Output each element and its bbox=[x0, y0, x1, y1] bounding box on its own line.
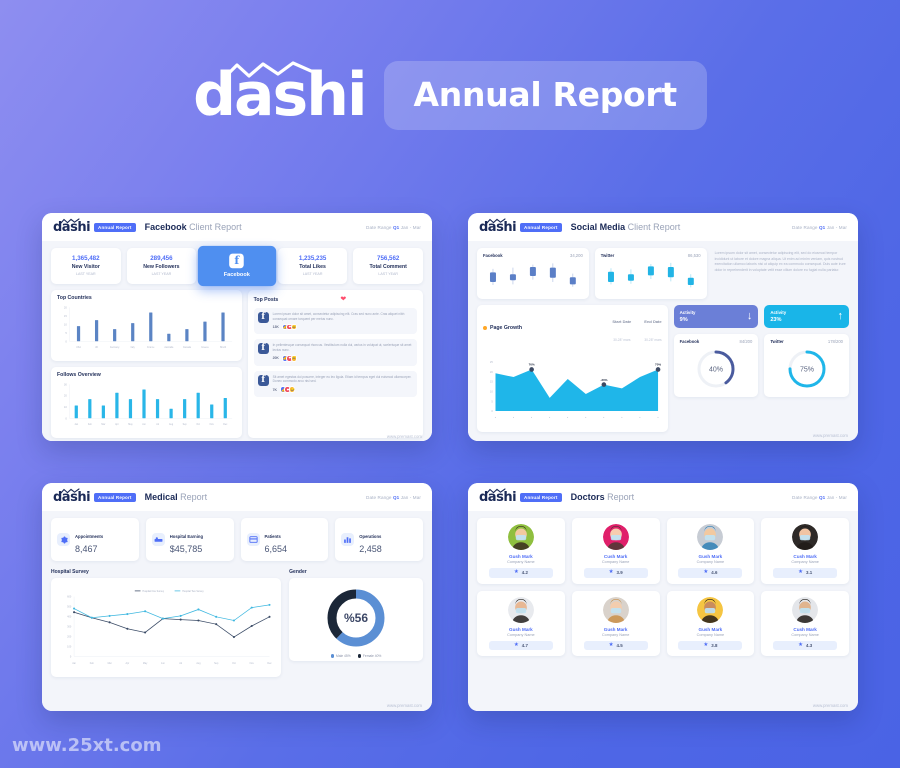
star-icon: ★ bbox=[514, 643, 519, 649]
svg-text:5: 5 bbox=[491, 399, 493, 403]
stat-sub: LAST YEAR bbox=[53, 272, 119, 276]
rating-value: 4.2 bbox=[522, 570, 528, 575]
twitter-gauge-chart: 75% bbox=[784, 346, 830, 392]
svg-text:●: ● bbox=[621, 416, 623, 419]
doctor-card[interactable]: Gush MarkCompany Name★4.2 bbox=[477, 518, 565, 584]
gender-title: Gender bbox=[289, 569, 423, 575]
activity-label: Activity bbox=[680, 310, 696, 315]
slide1-title: Facebook Client Report bbox=[145, 222, 242, 232]
stat-new-followers[interactable]: 289,456 New Followers LAST YEAR bbox=[127, 248, 197, 284]
post-meta: 20K 👍❤😀 bbox=[273, 355, 413, 362]
avatar bbox=[508, 597, 534, 623]
stat-value: 289,456 bbox=[129, 255, 195, 262]
status-dot-icon bbox=[483, 326, 487, 330]
wow-icon: 😀 bbox=[291, 355, 298, 362]
slide3-footer-site: www.premast.com bbox=[387, 703, 422, 708]
slides-grid: dashi Annual Report Facebook Client Repo… bbox=[42, 213, 858, 711]
svg-text:200: 200 bbox=[67, 636, 72, 639]
svg-text:Oct: Oct bbox=[232, 662, 236, 665]
svg-text:Italy: Italy bbox=[131, 346, 136, 349]
post-body: Lorem ipsum dolor sit amet, consectetur … bbox=[273, 312, 413, 330]
slide4-brand: dashi bbox=[479, 490, 516, 505]
doctor-card[interactable]: Gush MarkCompany Name★4.6 bbox=[667, 518, 755, 584]
candle-value: 34,200 bbox=[570, 253, 583, 258]
doctor-company: Company Name bbox=[671, 633, 751, 637]
svg-text:Sep: Sep bbox=[183, 424, 188, 426]
post-item[interactable]: f Lorem ipsum dolor sit amet, consectetu… bbox=[254, 308, 417, 334]
annual-report-badge: Annual Report bbox=[94, 493, 136, 502]
doctor-company: Company Name bbox=[765, 560, 845, 564]
gender-legend: Male 45% Female 40% bbox=[331, 654, 382, 658]
slide4-title: Doctors Report bbox=[571, 492, 635, 502]
svg-text:600: 600 bbox=[67, 596, 72, 599]
slide2-title-rest: Client Report bbox=[625, 222, 680, 232]
page-growth-card: Page Growth Start Date 30-28" mars End D… bbox=[477, 305, 668, 432]
activity-row: Activity 9% ↓ Activity 23% ↑ bbox=[674, 305, 849, 328]
post-meta: 13K 👍❤😀 bbox=[273, 324, 413, 331]
facebook-icon: f bbox=[258, 343, 269, 354]
avatar bbox=[792, 524, 818, 550]
avatar-image bbox=[792, 597, 818, 623]
svg-text:20: 20 bbox=[490, 370, 493, 374]
doctors-grid-row2: Gush MarkCompany Name★4.7 Gush MarkCompa… bbox=[477, 591, 849, 657]
doctor-company: Company Name bbox=[671, 560, 751, 564]
legend-item-female: Female 40% bbox=[358, 654, 382, 658]
doctor-company: Company Name bbox=[576, 560, 656, 564]
date-range-value: Jan - Mar bbox=[827, 225, 847, 230]
wow-icon: 😀 bbox=[291, 324, 298, 331]
svg-text:●: ● bbox=[549, 416, 551, 419]
gender-card: %56 Male 45% Female 40% bbox=[289, 578, 423, 661]
bed-icon bbox=[152, 533, 165, 546]
stat-value: 6,654 bbox=[265, 544, 288, 554]
svg-text:Aug: Aug bbox=[169, 423, 174, 426]
doctor-company: Company Name bbox=[765, 633, 845, 637]
squiggle-icon bbox=[223, 61, 313, 83]
date-range-label: Date Range bbox=[792, 225, 818, 230]
annual-report-badge: Annual Report bbox=[520, 493, 562, 502]
follows-overview-chart: 0102030JanFebMarAprMayJunJulAugSepOctNov… bbox=[57, 378, 236, 430]
doctor-name: Cush Mark bbox=[765, 554, 845, 559]
gear-icon bbox=[57, 533, 70, 546]
stat-label: Facebook bbox=[224, 272, 250, 279]
gauge-head: Facebook 84/200 bbox=[680, 339, 753, 344]
svg-text:Apr: Apr bbox=[126, 662, 130, 665]
slide1-charts-column: Top Countries 05101520USAUKGermanyItalyF… bbox=[51, 290, 242, 438]
top-posts-card: Top Posts ❤ f Lorem ipsum dolor sit amet… bbox=[248, 290, 423, 438]
slide-doctors-report[interactable]: dashi Annual Report Doctors Report Date … bbox=[468, 483, 858, 711]
squiggle-icon bbox=[60, 218, 80, 224]
site-watermark: www.25xt.com bbox=[12, 735, 161, 756]
slide1-body: 1,365,482 New Visitor LAST YEAR 289,456 … bbox=[42, 241, 432, 441]
svg-text:Mar: Mar bbox=[108, 662, 112, 665]
svg-text:Jun: Jun bbox=[161, 662, 165, 665]
activity-value: 23% bbox=[770, 317, 786, 323]
gauge-row: Facebook 84/200 40% Twitter 178/200 75% bbox=[674, 334, 849, 397]
svg-text:Hospital One Survey: Hospital One Survey bbox=[142, 590, 164, 593]
svg-text:May: May bbox=[128, 424, 133, 426]
rating-badge: ★4.2 bbox=[489, 568, 553, 578]
date-range-label: Date Range bbox=[792, 495, 818, 500]
annual-report-badge: Annual Report bbox=[94, 223, 136, 232]
stat-label: Total Comment bbox=[355, 264, 421, 270]
slide3-title: Medical Report bbox=[145, 492, 208, 502]
post-body: In pellentesque consequat rhoncus. Vesti… bbox=[273, 343, 413, 361]
stat-label: New Visitor bbox=[53, 264, 119, 270]
stat-text: Operations 2,458 bbox=[359, 525, 382, 554]
squiggle-icon bbox=[486, 488, 506, 494]
end-date-value: 30-28" mars bbox=[644, 338, 661, 342]
page-growth-dates: Start Date 30-28" mars End Date 30-28" m… bbox=[612, 310, 661, 346]
star-icon: ★ bbox=[609, 570, 614, 576]
svg-text:Canada: Canada bbox=[183, 347, 192, 349]
svg-text:75%: 75% bbox=[800, 367, 814, 374]
svg-text:Dec: Dec bbox=[267, 662, 272, 665]
doctor-name: Gush Mark bbox=[671, 627, 751, 632]
svg-text:●: ● bbox=[657, 416, 659, 419]
svg-text:●: ● bbox=[495, 416, 497, 419]
stat-new-visitor[interactable]: 1,365,482 New Visitor LAST YEAR bbox=[51, 248, 121, 284]
svg-text:Sep: Sep bbox=[214, 662, 219, 665]
date-range-quarter: Q1 bbox=[819, 225, 825, 230]
gauge-sub: 178/200 bbox=[828, 339, 843, 344]
date-range-quarter: Q1 bbox=[819, 495, 825, 500]
card-icon bbox=[247, 533, 260, 546]
date-range-quarter: Q1 bbox=[393, 495, 399, 500]
svg-text:Jan: Jan bbox=[74, 424, 78, 426]
svg-text:Aug: Aug bbox=[196, 662, 201, 665]
rating-badge: ★4.7 bbox=[489, 641, 553, 651]
svg-text:10: 10 bbox=[490, 389, 493, 393]
slide3-brand: dashi bbox=[53, 490, 90, 505]
svg-text:300: 300 bbox=[67, 626, 72, 629]
stat-label: Total Likes bbox=[280, 264, 346, 270]
avatar bbox=[603, 524, 629, 550]
svg-text:10: 10 bbox=[64, 405, 67, 409]
svg-text:40%: 40% bbox=[709, 367, 723, 374]
post-count: 7K bbox=[273, 388, 277, 392]
stat-appointments[interactable]: Appointments 8,467 bbox=[51, 518, 139, 561]
rating-badge: ★3.9 bbox=[584, 568, 648, 578]
activity-text: Activity 9% bbox=[680, 310, 696, 323]
activity-card-down[interactable]: Activity 9% ↓ bbox=[674, 305, 759, 328]
rating-value: 3.1 bbox=[806, 570, 812, 575]
stat-hospital-earning[interactable]: Hospital Earning $45,785 bbox=[146, 518, 234, 561]
stat-value: 1,235,235 bbox=[280, 255, 346, 262]
slide1-stat-row: 1,365,482 New Visitor LAST YEAR 289,456 … bbox=[51, 248, 423, 284]
slide3-date-range[interactable]: Date Range Q1 Jan - Mar bbox=[366, 495, 421, 500]
stat-patients[interactable]: Patients 6,654 bbox=[241, 518, 329, 561]
top-countries-card: Top Countries 05101520USAUKGermanyItalyF… bbox=[51, 290, 242, 361]
stat-label: Patients bbox=[265, 534, 281, 539]
avatar bbox=[697, 597, 723, 623]
doctors-grid-row1: Gush MarkCompany Name★4.2 Cush MarkCompa… bbox=[477, 518, 849, 584]
doctor-company: Company Name bbox=[481, 560, 561, 564]
stat-total-comment[interactable]: 756,562 Total Comment LAST YEAR bbox=[353, 248, 423, 284]
svg-text:UK: UK bbox=[95, 347, 99, 349]
svg-text:May: May bbox=[143, 662, 148, 665]
svg-text:-30%: -30% bbox=[600, 378, 607, 382]
slide3-content: Hospital Survey 0100200300400500600Hospi… bbox=[51, 569, 423, 677]
avatar-image bbox=[697, 597, 723, 623]
dashi-logo: dashi bbox=[193, 65, 365, 125]
slide2-right-column: Activity 9% ↓ Activity 23% ↑ bbox=[674, 305, 849, 432]
svg-text:France: France bbox=[147, 347, 155, 349]
avatar-image bbox=[508, 524, 534, 550]
stat-text: Hospital Earning $45,785 bbox=[170, 525, 203, 554]
stat-value: 756,562 bbox=[355, 255, 421, 262]
svg-text:●: ● bbox=[603, 416, 605, 419]
svg-text:100: 100 bbox=[67, 646, 72, 649]
gauge-name: Facebook bbox=[680, 339, 700, 344]
doctor-name: Gush Mark bbox=[481, 627, 561, 632]
stat-sub: LAST YEAR bbox=[355, 272, 421, 276]
arrow-up-icon: ↑ bbox=[838, 311, 844, 322]
date-range-label: Date Range bbox=[366, 225, 392, 230]
slide1-title-bold: Facebook bbox=[145, 222, 187, 232]
candle-value: 86,530 bbox=[688, 253, 701, 258]
doctor-company: Company Name bbox=[481, 633, 561, 637]
slide3-title-bold: Medical bbox=[145, 492, 178, 502]
stat-text: Appointments 8,467 bbox=[75, 525, 103, 554]
end-date: End Date 30-28" mars bbox=[644, 310, 661, 346]
post-count: 13K bbox=[273, 325, 279, 329]
slide1-date-range[interactable]: Date Range Q1 Jan - Mar bbox=[366, 225, 421, 230]
slide2-body: Facebook 34,200 Twitter 86,530 Lorem ips… bbox=[468, 241, 858, 441]
slide1-footer-site: www.premast.com bbox=[387, 434, 422, 439]
svg-text:Jul: Jul bbox=[179, 662, 182, 665]
legend-dot-icon bbox=[358, 654, 361, 657]
stat-value: 1,365,482 bbox=[53, 255, 119, 262]
legend-dot-icon bbox=[331, 654, 334, 657]
activity-value: 9% bbox=[680, 317, 696, 323]
stat-facebook-active[interactable]: f Facebook bbox=[198, 246, 276, 286]
date-range-value: Jan - Mar bbox=[401, 495, 421, 500]
slide-medical-report[interactable]: dashi Annual Report Medical Report Date … bbox=[42, 483, 432, 711]
svg-text:Greece: Greece bbox=[201, 347, 209, 349]
slide1-topbar: dashi Annual Report Facebook Client Repo… bbox=[42, 213, 432, 241]
svg-text:●: ● bbox=[585, 416, 587, 419]
start-date-value: 30-28" mars bbox=[613, 338, 630, 342]
doctor-card[interactable]: Gush MarkCompany Name★3.8 bbox=[667, 591, 755, 657]
doctor-card[interactable]: Cush MarkCompany Name★4.3 bbox=[761, 591, 849, 657]
doctor-name: Gush Mark bbox=[481, 554, 561, 559]
slide4-title-rest: Report bbox=[605, 492, 635, 502]
gauge-card-twitter: Twitter 178/200 75% bbox=[764, 334, 849, 397]
slide3-body: Appointments 8,467 Hospital Earning $45,… bbox=[42, 511, 432, 711]
twitter-candlestick-chart bbox=[601, 261, 701, 291]
squiggle-icon bbox=[486, 218, 506, 224]
post-text: Sit amet egestas dui posuere, integer eu… bbox=[273, 375, 413, 384]
page-growth-head: Page Growth Start Date 30-28" mars End D… bbox=[483, 310, 662, 346]
rating-value: 3.9 bbox=[617, 570, 623, 575]
doctor-card[interactable]: Gush MarkCompany Name★4.7 bbox=[477, 591, 565, 657]
svg-text:0: 0 bbox=[491, 409, 493, 413]
date-range-quarter: Q1 bbox=[393, 225, 399, 230]
svg-text:25: 25 bbox=[490, 360, 493, 364]
candle-head: Twitter 86,530 bbox=[601, 253, 701, 258]
stat-operations[interactable]: Operations 2,458 bbox=[335, 518, 423, 561]
svg-text:Mar: Mar bbox=[101, 424, 105, 426]
date-range-label: Date Range bbox=[366, 495, 392, 500]
gauge-sub: 84/200 bbox=[740, 339, 753, 344]
legend-label: Male 45% bbox=[336, 654, 351, 658]
annual-report-pill: Annual Report bbox=[384, 61, 707, 130]
start-date: Start Date 30-28" mars bbox=[612, 310, 631, 346]
svg-text:5: 5 bbox=[65, 331, 67, 335]
slide-facebook-client-report[interactable]: dashi Annual Report Facebook Client Repo… bbox=[42, 213, 432, 441]
activity-label: Activity bbox=[770, 310, 786, 315]
date-range-value: Jan - Mar bbox=[401, 225, 421, 230]
stat-label: Hospital Earning bbox=[170, 534, 203, 539]
svg-text:15: 15 bbox=[490, 380, 493, 384]
svg-text:76%: 76% bbox=[529, 363, 535, 367]
candle-head: Facebook 34,200 bbox=[483, 253, 583, 258]
svg-text:Apr: Apr bbox=[115, 423, 119, 426]
gauge-head: Twitter 178/200 bbox=[770, 339, 843, 344]
slide4-date-range[interactable]: Date Range Q1 Jan - Mar bbox=[792, 495, 847, 500]
candle-card-facebook: Facebook 34,200 bbox=[477, 248, 589, 299]
svg-text:Nov: Nov bbox=[250, 662, 255, 665]
svg-text:Nov: Nov bbox=[210, 424, 215, 426]
stat-value: 2,458 bbox=[359, 544, 382, 554]
gauge-card-facebook: Facebook 84/200 40% bbox=[674, 334, 759, 397]
slide-social-media-client-report[interactable]: dashi Annual Report Social Media Client … bbox=[468, 213, 858, 441]
rating-value: 4.7 bbox=[522, 643, 528, 648]
slide2-top-row: Facebook 34,200 Twitter 86,530 Lorem ips… bbox=[477, 248, 849, 299]
rating-value: 4.3 bbox=[806, 643, 812, 648]
star-icon: ★ bbox=[514, 570, 519, 576]
svg-text:Feb: Feb bbox=[88, 424, 93, 426]
slide2-footer-site: www.premast.com bbox=[813, 433, 848, 438]
date-range-value: Jan - Mar bbox=[827, 495, 847, 500]
doctor-name: Cush Mark bbox=[576, 554, 656, 559]
doctor-card[interactable]: Gush MarkCompany Name★4.5 bbox=[572, 591, 660, 657]
star-icon: ★ bbox=[609, 643, 614, 649]
facebook-icon: f bbox=[258, 312, 269, 323]
svg-text:20: 20 bbox=[64, 305, 67, 309]
svg-text:USA: USA bbox=[76, 346, 81, 349]
wow-icon: 😀 bbox=[289, 386, 296, 393]
rating-value: 4.5 bbox=[617, 643, 623, 648]
svg-text:Oct: Oct bbox=[196, 423, 200, 426]
top-posts-head: Top Posts ❤ bbox=[254, 296, 417, 303]
svg-text:Hospital Two Survey: Hospital Two Survey bbox=[182, 590, 204, 593]
post-meta: 7K 👍❤😀 bbox=[273, 386, 413, 393]
reaction-icons: 👍❤😀 bbox=[282, 355, 298, 362]
slide2-content: Page Growth Start Date 30-28" mars End D… bbox=[477, 305, 849, 432]
stat-sub: LAST YEAR bbox=[129, 272, 195, 276]
stat-value: 8,467 bbox=[75, 544, 103, 554]
stat-label: New Followers bbox=[129, 264, 195, 270]
slide4-topbar: dashi Annual Report Doctors Report Date … bbox=[468, 483, 858, 511]
doctor-card[interactable]: Cush MarkCompany Name★3.9 bbox=[572, 518, 660, 584]
svg-text:Jul: Jul bbox=[156, 424, 159, 426]
arrow-down-icon: ↓ bbox=[747, 311, 753, 322]
legend-item-male: Male 45% bbox=[331, 654, 351, 658]
rating-badge: ★4.6 bbox=[678, 568, 742, 578]
hospital-survey-line-chart: 0100200300400500600Hospital One SurveyHo… bbox=[57, 583, 275, 669]
start-date-label: Start Date bbox=[612, 319, 631, 324]
svg-text:Jan: Jan bbox=[72, 662, 76, 665]
svg-text:Jun: Jun bbox=[142, 424, 146, 426]
svg-text:Feb: Feb bbox=[90, 662, 95, 665]
post-text: Lorem ipsum dolor sit amet, consectetur … bbox=[273, 312, 413, 321]
stat-sub: LAST YEAR bbox=[280, 272, 346, 276]
activity-text: Activity 23% bbox=[770, 310, 786, 323]
rating-badge: ★4.3 bbox=[773, 641, 837, 651]
chart-icon bbox=[341, 533, 354, 546]
activity-card-up[interactable]: Activity 23% ↑ bbox=[764, 305, 849, 328]
avatar-image bbox=[792, 524, 818, 550]
hospital-survey-title: Hospital Survey bbox=[51, 569, 281, 575]
svg-text:Dec: Dec bbox=[223, 424, 228, 426]
star-icon: ★ bbox=[703, 643, 708, 649]
follows-overview-card: Follows Overview 0102030JanFebMarAprMayJ… bbox=[51, 367, 242, 438]
legend-label: Female 40% bbox=[363, 654, 382, 658]
svg-text:0: 0 bbox=[65, 339, 67, 343]
svg-text:500: 500 bbox=[67, 606, 72, 609]
facebook-icon: f bbox=[230, 254, 245, 269]
stat-total-likes[interactable]: 1,235,235 Total Likes LAST YEAR bbox=[278, 248, 348, 284]
rating-value: 4.6 bbox=[711, 570, 717, 575]
slide2-description: Lorem ipsum dolor sit amet, consectetur … bbox=[713, 248, 849, 299]
stat-label: Appointments bbox=[75, 534, 103, 539]
avatar bbox=[508, 524, 534, 550]
rating-badge: ★3.8 bbox=[678, 641, 742, 651]
doctor-company: Company Name bbox=[576, 633, 656, 637]
slide3-title-rest: Report bbox=[178, 492, 208, 502]
hospital-survey-section: Hospital Survey 0100200300400500600Hospi… bbox=[51, 569, 281, 677]
svg-text:15: 15 bbox=[64, 314, 67, 318]
avatar bbox=[697, 524, 723, 550]
post-item[interactable]: f Sit amet egestas dui posuere, integer … bbox=[254, 371, 417, 397]
svg-text:Germany: Germany bbox=[110, 347, 120, 349]
gender-section: Gender %56 Male 45% Female 40% bbox=[289, 569, 423, 677]
rating-badge: ★4.5 bbox=[584, 641, 648, 651]
svg-text:30: 30 bbox=[64, 382, 67, 386]
hero-header: dashi Annual Report bbox=[0, 0, 900, 190]
slide2-topbar: dashi Annual Report Social Media Client … bbox=[468, 213, 858, 241]
annual-report-badge: Annual Report bbox=[520, 223, 562, 232]
gender-donut-chart: %56 bbox=[322, 584, 390, 652]
candle-name: Twitter bbox=[601, 253, 614, 258]
candle-card-twitter: Twitter 86,530 bbox=[595, 248, 707, 299]
slide2-brand: dashi bbox=[479, 220, 516, 235]
facebook-gauge-chart: 40% bbox=[693, 346, 739, 392]
avatar-image bbox=[603, 597, 629, 623]
doctor-name: Gush Mark bbox=[576, 627, 656, 632]
end-date-label: End Date bbox=[644, 319, 661, 324]
slide2-date-range[interactable]: Date Range Q1 Jan - Mar bbox=[792, 225, 847, 230]
avatar-image bbox=[603, 524, 629, 550]
avatar-image bbox=[697, 524, 723, 550]
slide2-title-bold: Social Media bbox=[571, 222, 626, 232]
avatar bbox=[603, 597, 629, 623]
svg-text:●: ● bbox=[639, 416, 641, 419]
page-growth-title: Page Growth bbox=[490, 325, 522, 331]
svg-text:Brazil: Brazil bbox=[220, 347, 226, 349]
gauge-name: Twitter bbox=[770, 339, 783, 344]
avatar bbox=[792, 597, 818, 623]
post-item[interactable]: f In pellentesque consequat rhoncus. Ves… bbox=[254, 339, 417, 365]
reaction-icons: 👍❤😀 bbox=[282, 324, 298, 331]
doctor-name: Cush Mark bbox=[765, 627, 845, 632]
svg-text:Australia: Australia bbox=[164, 346, 174, 349]
avatar-image bbox=[508, 597, 534, 623]
post-body: Sit amet egestas dui posuere, integer eu… bbox=[273, 375, 413, 393]
doctor-card[interactable]: Cush MarkCompany Name★3.1 bbox=[761, 518, 849, 584]
